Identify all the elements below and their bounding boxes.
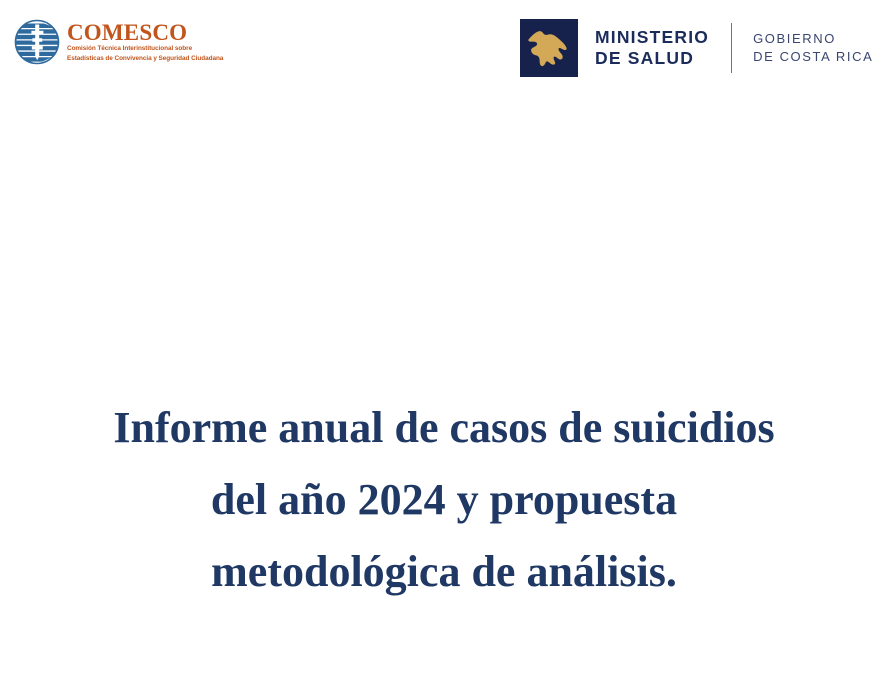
page-title-line-1: Informe anual de casos de suicidios bbox=[0, 392, 888, 464]
slide-canvas: COMESCO Comisión Técnica Interinstitucio… bbox=[0, 0, 888, 676]
page-title: Informe anual de casos de suicidios del … bbox=[0, 392, 888, 608]
lockup-divider bbox=[731, 23, 732, 73]
ministerio-name-line-2: DE SALUD bbox=[595, 48, 709, 69]
ministerio-de-salud-logo-lockup: MINISTERIO DE SALUD GOBIERNO DE COSTA RI… bbox=[520, 19, 873, 77]
comesco-text-group: COMESCO Comisión Técnica Interinstitucio… bbox=[67, 20, 223, 63]
ministerio-name-line-1: MINISTERIO bbox=[595, 27, 709, 48]
ministerio-name-group: MINISTERIO DE SALUD bbox=[595, 27, 709, 69]
comesco-logo-lockup: COMESCO Comisión Técnica Interinstitucio… bbox=[14, 19, 223, 65]
gobierno-name-line-2: DE COSTA RICA bbox=[753, 48, 873, 66]
comesco-subtitle-line-1: Comisión Técnica Interinstitucional sobr… bbox=[67, 45, 223, 54]
costa-rica-map-icon bbox=[520, 19, 578, 77]
gobierno-name-group: GOBIERNO DE COSTA RICA bbox=[753, 30, 873, 66]
gobierno-name-line-1: GOBIERNO bbox=[753, 30, 873, 48]
globe-icon bbox=[14, 19, 60, 65]
page-title-line-3: metodológica de análisis. bbox=[0, 536, 888, 608]
comesco-wordmark: COMESCO bbox=[67, 21, 223, 44]
comesco-subtitle-line-2: Estadísticas de Convivencia y Seguridad … bbox=[67, 55, 223, 64]
costa-rica-map-badge bbox=[520, 19, 578, 77]
header-band: COMESCO Comisión Técnica Interinstitucio… bbox=[0, 0, 888, 95]
page-title-line-2: del año 2024 y propuesta bbox=[0, 464, 888, 536]
